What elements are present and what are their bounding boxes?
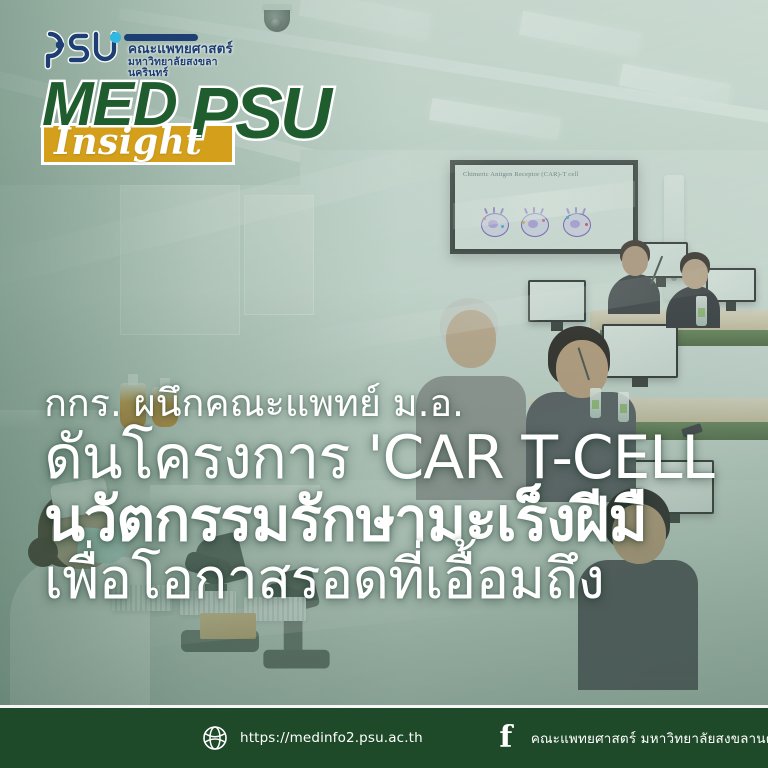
website-link[interactable]: https://medinfo2.psu.ac.th [202, 725, 423, 751]
headline-line-3: นวัตกรรมรักษามะเร็งฝีมื [44, 490, 768, 550]
faculty-line-1: คณะแพทยศาสตร์ [128, 42, 250, 57]
logo-psu-word: PSU [190, 78, 329, 150]
facebook-link[interactable]: f คณะแพทยศาสตร์ มหาวิทยาลัยสงขลานครินทร์… [493, 725, 768, 751]
globe-icon [202, 725, 228, 751]
website-label: https://medinfo2.psu.ac.th [240, 730, 423, 746]
logo-insight-word: Insight [54, 124, 202, 160]
footer-bar: https://medinfo2.psu.ac.th f คณะแพทยศาสต… [0, 708, 768, 768]
headline-line-4: เพื่อโอกาสรอดที่เอื้อมถึง [44, 552, 768, 608]
facebook-icon: f [493, 725, 519, 751]
headline-line-1: กกร. ผนึกคณะแพทย์ ม.อ. [44, 384, 768, 422]
logo-dash [124, 34, 198, 41]
logo-dot [110, 32, 121, 43]
psu-logo: คณะแพทยศาสตร์ มหาวิทยาลัยสงขลานครินทร์ [40, 26, 250, 74]
headline-line-2: ดันโครงการ 'CAR T-CELL [44, 428, 768, 488]
poster-canvas: Chimeric Antigen Receptor (CAR)-T cell [0, 0, 768, 768]
facebook-label: คณะแพทยศาสตร์ มหาวิทยาลัยสงขลานครินทร์ - [531, 727, 768, 749]
medpsu-insight-logo: MED PSU Insight [36, 74, 306, 166]
headline-block: กกร. ผนึกคณะแพทย์ ม.อ. ดันโครงการ 'CAR T… [44, 384, 768, 608]
